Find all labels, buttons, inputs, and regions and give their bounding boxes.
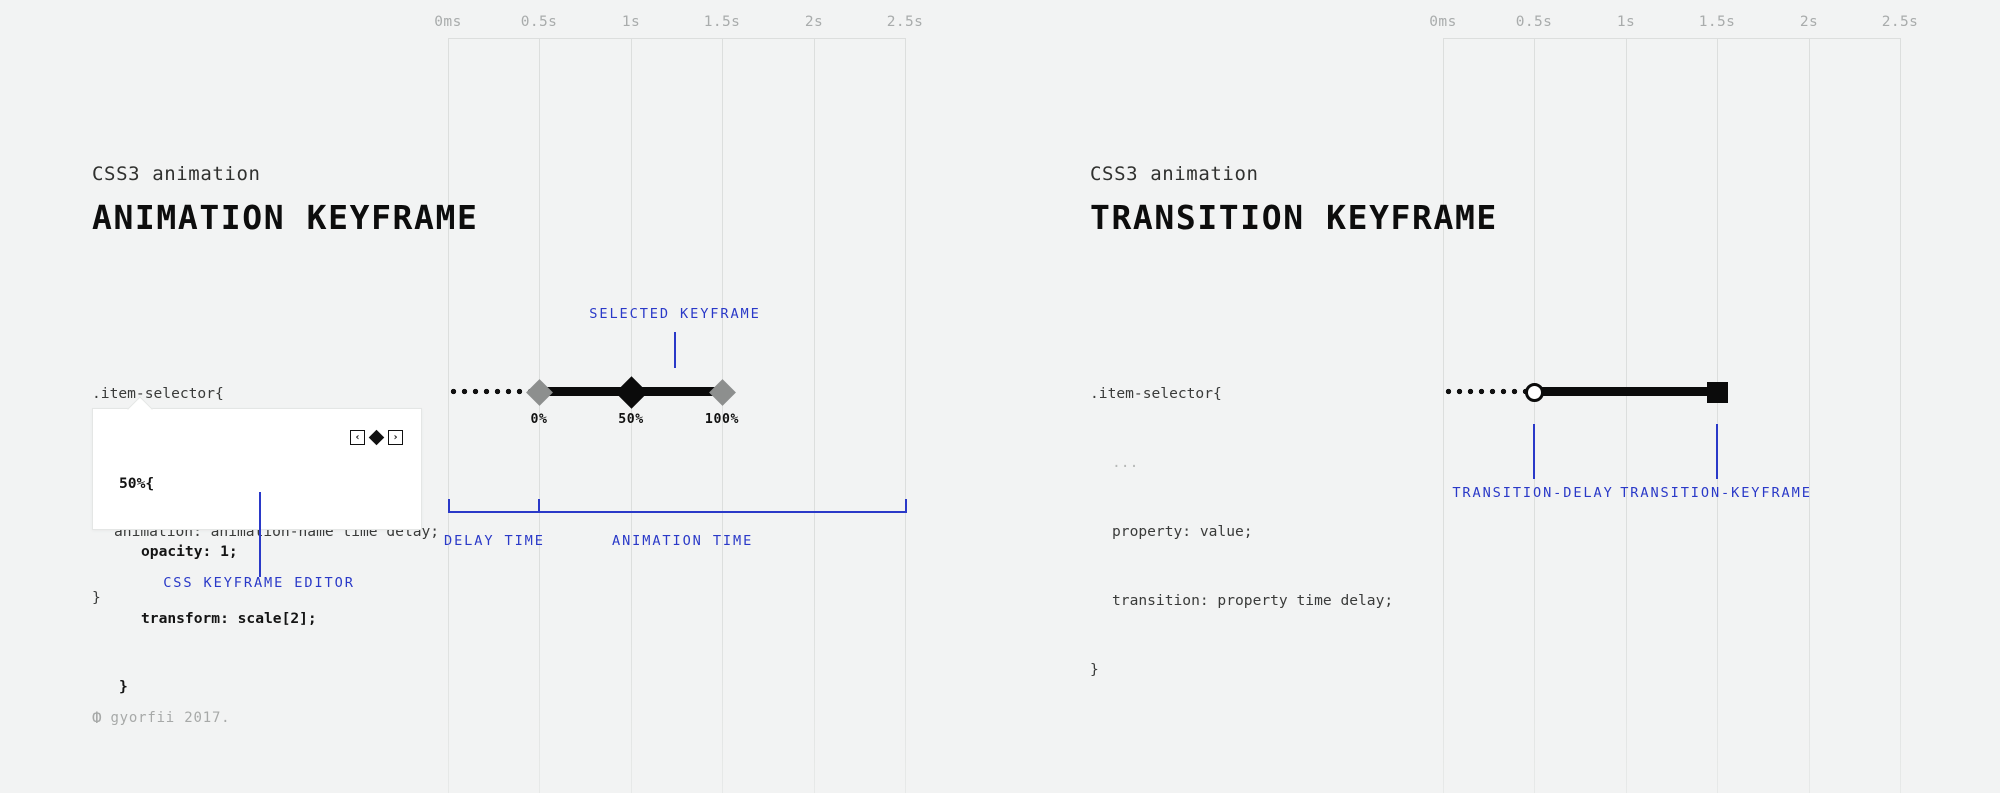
panel-kicker-animation: CSS3 animation: [92, 163, 261, 185]
code-line: }: [1090, 658, 1393, 681]
poster-canvas: 0ms 0.5s 1s 1.5s 2s 2.5s 0ms 0.5s 1s 1.5…: [0, 0, 2000, 793]
transition-start-marker[interactable]: [1525, 383, 1544, 402]
ruler-tick-2: 1s: [622, 14, 640, 30]
ruler-tick-3: 1.5s: [704, 14, 741, 30]
transition-end-marker[interactable]: [1707, 382, 1728, 403]
code-line-ellipsis: ...: [1090, 451, 1393, 474]
css-keyframe-editor-popup[interactable]: 50%{ opacity: 1; transform: scale[2]; } …: [92, 408, 422, 530]
ruler-top-border: [448, 38, 906, 39]
keyframe-percent-label: 100%: [705, 412, 739, 427]
keyframe-percent-label: 50%: [618, 412, 644, 427]
ruler-gridline-0: [1443, 38, 1444, 793]
ruler-gridline-2: [1626, 38, 1627, 793]
footer-credit: Ф gyorfii 2017.: [92, 708, 230, 727]
ruler-tick-5: 2.5s: [1882, 14, 1919, 30]
annotation-transition-delay: TRANSITION-DELAY: [1452, 485, 1613, 501]
ruler-tick-1: 0.5s: [1516, 14, 1553, 30]
footer-text: gyorfii 2017.: [110, 710, 230, 726]
ruler-gridline-3: [1717, 38, 1718, 793]
ruler-gridline-5: [905, 38, 906, 793]
ruler-tick-4: 2s: [805, 14, 823, 30]
ruler-gridline-4: [814, 38, 815, 793]
transition-bar-segment: [1534, 387, 1717, 396]
transition-delay-leader-line: [1533, 424, 1535, 479]
editor-leader-line: [259, 492, 261, 577]
ruler-gridline-5: [1900, 38, 1901, 793]
panel-kicker-transition: CSS3 animation: [1090, 163, 1259, 185]
timing-bracket: [448, 499, 907, 513]
transition-delay-dotted-segment: [1443, 388, 1534, 395]
code-line: property: value;: [1090, 520, 1393, 543]
panel-headline-transition: TRANSITION KEYFRAME: [1090, 198, 1498, 237]
popup-code-line: 50%{: [119, 473, 317, 496]
ruler-gridline-4: [1809, 38, 1810, 793]
keyframe-nav-controls: ‹ ›: [350, 430, 403, 445]
chevron-right-icon[interactable]: ›: [388, 430, 403, 445]
ruler-tick-0: 0ms: [434, 14, 461, 30]
popup-code-line: }: [119, 676, 317, 699]
ruler-tick-3: 1.5s: [1699, 14, 1736, 30]
ruler-tick-4: 2s: [1800, 14, 1818, 30]
ruler-tick-0: 0ms: [1429, 14, 1456, 30]
ruler-gridline-1: [1534, 38, 1535, 793]
ruler-top-border: [1443, 38, 1901, 39]
chevron-left-icon[interactable]: ‹: [350, 430, 365, 445]
phi-logo-icon: Ф: [92, 708, 102, 727]
ruler-tick-5: 2.5s: [887, 14, 924, 30]
code-line: transition: property time delay;: [1090, 589, 1393, 612]
panel-headline-animation: ANIMATION KEYFRAME: [92, 198, 478, 237]
popup-code-line: opacity: 1;: [119, 541, 317, 564]
diamond-icon[interactable]: [369, 430, 385, 446]
ruler-tick-1: 0.5s: [521, 14, 558, 30]
annotation-animation-time: ANIMATION TIME: [612, 533, 753, 549]
annotation-transition-keyframe: TRANSITION-KEYFRAME: [1620, 485, 1812, 501]
annotation-selected-keyframe: SELECTED KEYFRAME: [589, 306, 760, 322]
keyframe-percent-label: 0%: [530, 412, 547, 427]
ruler-tick-2: 1s: [1617, 14, 1635, 30]
popup-code-line: transform: scale[2];: [119, 608, 317, 631]
timing-bracket-divider: [538, 499, 540, 513]
code-block-transition: .item-selector{ ... property: value; tra…: [1090, 336, 1393, 727]
annotation-delay-time: DELAY TIME: [444, 533, 545, 549]
ruler-gridline-0: [448, 38, 449, 793]
selected-keyframe-leader-line: [674, 332, 676, 368]
code-line: .item-selector{: [1090, 382, 1393, 405]
annotation-css-keyframe-editor: CSS KEYFRAME EDITOR: [163, 575, 355, 591]
transition-keyframe-leader-line: [1716, 424, 1718, 479]
timeline-ruler-animation: 0ms 0.5s 1s 1.5s 2s 2.5s: [448, 0, 906, 793]
timeline-ruler-transition: 0ms 0.5s 1s 1.5s 2s 2.5s: [1443, 0, 1901, 793]
